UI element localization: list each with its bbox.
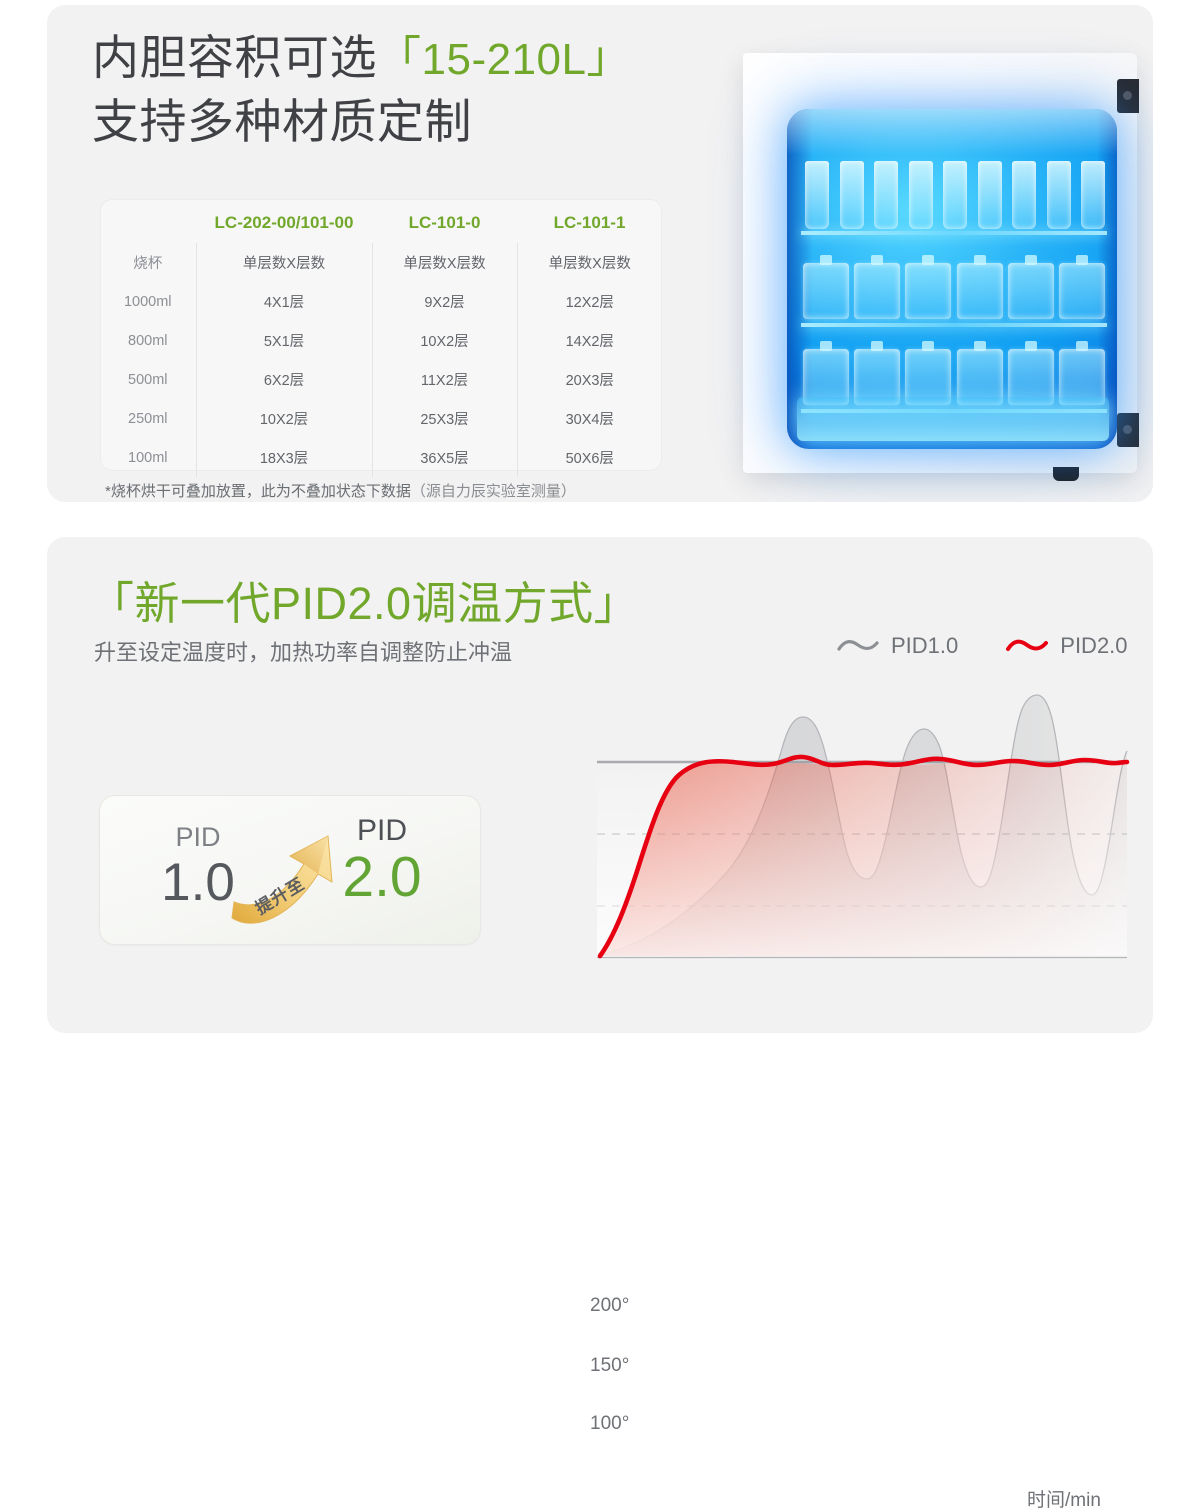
spec-table-card: LC-202-00/101-00 LC-101-0 LC-101-1 烧杯 单层… [100, 199, 662, 471]
pid-new-version: PID 2.0 [312, 814, 452, 906]
row-cell: 10X2层 [196, 399, 372, 438]
beaker-row [803, 337, 1105, 405]
wavy-line-red-icon [1006, 638, 1048, 654]
table-subheader-row: 烧杯 单层数X层数 单层数X层数 单层数X层数 [100, 243, 662, 282]
product-photo [707, 5, 1153, 502]
table-row: 100ml 18X3层 36X5层 50X6层 [100, 438, 662, 477]
row-cell: 11X2层 [372, 360, 517, 399]
subheader-cell-3: 单层数X层数 [517, 243, 662, 282]
pid-section-title: 「新一代PID2.0调温方式」 [89, 567, 639, 632]
row-label: 500ml [100, 360, 196, 399]
legend-label-pid1: PID1.0 [891, 633, 958, 659]
headline-prefix: 内胆容积可选 [92, 31, 377, 84]
row-label: 1000ml [100, 282, 196, 321]
footnote-source: （源自力辰实验室测量） [411, 483, 576, 500]
legend-item-pid1: PID1.0 [837, 633, 958, 659]
table-col-header-2: LC-101-1 [517, 199, 662, 243]
row-label: 100ml [100, 438, 196, 477]
row-cell: 10X2层 [372, 321, 517, 360]
row-label: 800ml [100, 321, 196, 360]
spec-section-card: 内胆容积可选「15-210L」 支持多种材质定制 LC-202-00/101-0… [47, 5, 1153, 502]
row-cell: 25X3层 [372, 399, 517, 438]
page-title: 内胆容积可选「15-210L」 支持多种材质定制 [92, 27, 631, 153]
table-header-row: LC-202-00/101-00 LC-101-0 LC-101-1 [100, 199, 662, 243]
shelf [801, 231, 1107, 235]
row-cell: 50X6层 [517, 438, 662, 477]
row-cell: 18X3层 [196, 438, 372, 477]
legend-item-pid2: PID2.0 [1006, 633, 1127, 659]
row-cell: 12X2层 [517, 282, 662, 321]
subheader-cell-1: 单层数X层数 [196, 243, 372, 282]
y-axis-tick-150: 150° [590, 1355, 1153, 1377]
y-axis-tick-200: 200° [590, 1295, 1153, 1317]
oven-body [743, 53, 1137, 473]
headline-line-2: 支持多种材质定制 [92, 91, 631, 153]
pid-comparison-box: PID 1.0 提升至 PID 2.0 [99, 795, 481, 945]
y-axis-tick-100: 100° [590, 1413, 1153, 1435]
subheader-cell-2: 单层数X层数 [372, 243, 517, 282]
test-tube-icon [943, 161, 967, 229]
table-row: 250ml 10X2层 25X3层 30X4层 [100, 399, 662, 438]
test-tube-icon [840, 161, 864, 229]
beaker-icon [854, 263, 900, 319]
test-tube-icon [1012, 161, 1036, 229]
footnote-main: *烧杯烘干可叠加放置，此为不叠加状态下数据 [105, 483, 411, 500]
spec-footnote: *烧杯烘干可叠加放置，此为不叠加状态下数据（源自力辰实验室测量） [105, 480, 576, 501]
spec-table: LC-202-00/101-00 LC-101-0 LC-101-1 烧杯 单层… [100, 199, 662, 477]
test-tube-icon [978, 161, 1002, 229]
oven-glass-door [787, 109, 1117, 449]
hinge-top-icon [1117, 79, 1139, 113]
beaker-icon [957, 263, 1003, 319]
legend-label-pid2: PID2.0 [1060, 633, 1127, 659]
row-cell: 20X3层 [517, 360, 662, 399]
beaker-icon [1008, 263, 1054, 319]
row-cell: 4X1层 [196, 282, 372, 321]
table-corner-cell [100, 199, 196, 243]
test-tube-icon [1047, 161, 1071, 229]
row-cell: 36X5层 [372, 438, 517, 477]
pid-section-subtitle: 升至设定温度时，加热功率自调整防止冲温 [94, 635, 512, 667]
test-tube-icon [909, 161, 933, 229]
pid-new-value: 2.0 [312, 848, 452, 906]
pid-section-card: 「新一代PID2.0调温方式」 升至设定温度时，加热功率自调整防止冲温 PID1… [47, 537, 1153, 1033]
test-tube-icon [874, 161, 898, 229]
pid-new-label: PID [312, 814, 452, 848]
wavy-line-gray-icon [837, 638, 879, 654]
table-row: 500ml 6X2层 11X2层 20X3层 [100, 360, 662, 399]
beaker-icon [803, 263, 849, 319]
hinge-bottom-icon [1117, 413, 1139, 447]
door-gloss [787, 109, 1117, 155]
chart-legend: PID1.0 PID2.0 [837, 633, 1128, 659]
table-row: 800ml 5X1层 10X2层 14X2层 [100, 321, 662, 360]
table-col-header-1: LC-101-0 [372, 199, 517, 243]
subheader-cell-0: 烧杯 [100, 243, 196, 282]
table-col-header-0: LC-202-00/101-00 [196, 199, 372, 243]
test-tube-icon [805, 161, 829, 229]
row-cell: 5X1层 [196, 321, 372, 360]
beaker-row [803, 249, 1105, 319]
shelf [801, 323, 1107, 327]
pid-temperature-chart [527, 667, 1137, 997]
capacity-value: 15-210L [422, 35, 587, 84]
bracket-close: 」 [586, 33, 631, 82]
row-cell: 14X2层 [517, 321, 662, 360]
row-cell: 30X4层 [517, 399, 662, 438]
table-row: 1000ml 4X1层 9X2层 12X2层 [100, 282, 662, 321]
fade-overlay [597, 762, 1127, 957]
test-tube-row [805, 161, 1105, 229]
row-label: 250ml [100, 399, 196, 438]
oven-foot [1053, 467, 1079, 481]
beaker-icon [905, 263, 951, 319]
test-tube-icon [1081, 161, 1105, 229]
beaker-icon [1059, 263, 1105, 319]
bracket-open: 「 [377, 33, 422, 82]
chamber-base-glow [797, 397, 1109, 441]
row-cell: 6X2层 [196, 360, 372, 399]
x-axis-label: 时间/min [1027, 1485, 1101, 1512]
row-cell: 9X2层 [372, 282, 517, 321]
